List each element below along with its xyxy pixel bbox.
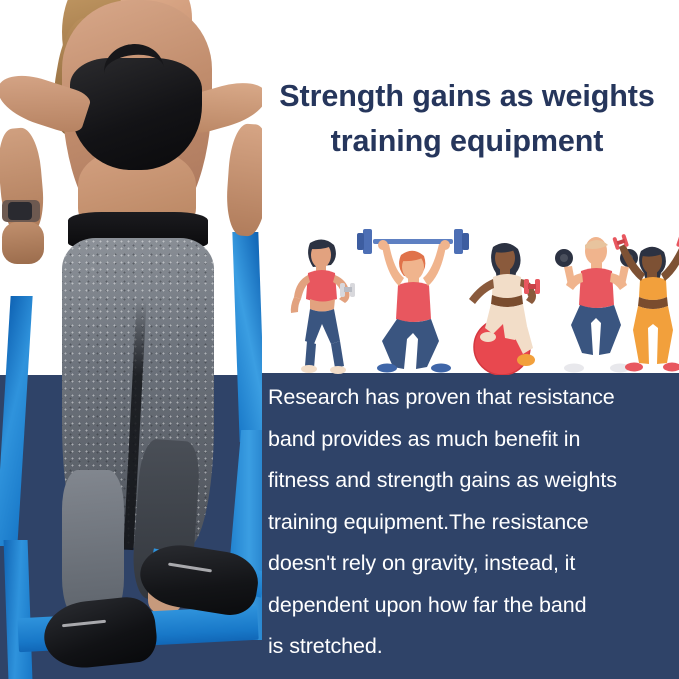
poster-headline: Strength gains as weights training equip… <box>262 74 672 164</box>
poster-body-text: Research has proven that resistance band… <box>268 377 672 668</box>
woman-dumbbell-curl-icon <box>280 225 366 375</box>
body-line: dependent upon how far the band <box>268 585 672 627</box>
body-line: is stretched. <box>268 626 672 668</box>
body-line: training equipment.The resistance <box>268 502 672 544</box>
man-barbell-press-icon <box>357 225 469 375</box>
resistance-band-right-upper <box>232 232 262 442</box>
illustration-woman-arms-raised <box>612 225 679 375</box>
model-left-shoe <box>41 594 159 671</box>
body-line: Research has proven that resistance <box>268 377 672 419</box>
illustration-woman-exercise-ball <box>458 225 558 375</box>
woman-exercise-ball-icon <box>458 225 558 375</box>
exercise-illustration-row <box>262 215 679 375</box>
body-line: band provides as much benefit in <box>268 419 672 461</box>
illustration-woman-dumbbell-curl <box>280 225 366 375</box>
model-left-hand <box>2 222 44 264</box>
product-marketing-poster: Strength gains as weights training equip… <box>0 0 679 679</box>
model-photo <box>0 0 262 679</box>
body-line: fitness and strength gains as weights <box>268 460 672 502</box>
resistance-band-left-lower <box>4 540 33 679</box>
illustration-man-barbell-press <box>357 225 469 375</box>
model-wristwatch-face <box>8 202 32 220</box>
body-line: doesn't rely on gravity, instead, it <box>268 543 672 585</box>
woman-arms-raised-icon <box>612 225 679 375</box>
